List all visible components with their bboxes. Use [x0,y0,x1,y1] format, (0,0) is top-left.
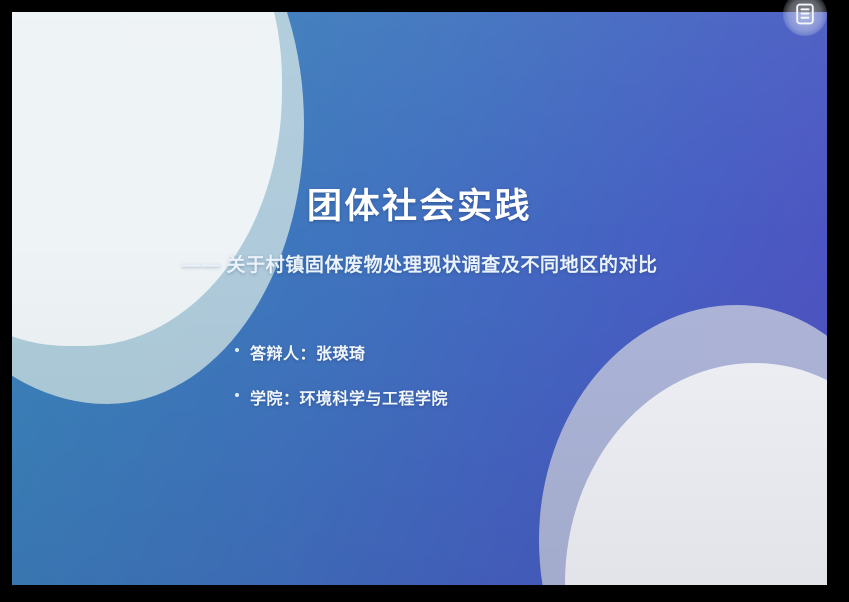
list-item-college: 学院：环境科学与工程学院 [234,385,448,409]
bullet-dot-icon [235,393,239,397]
list-item-label: 答辩人：张瑛琦 [250,346,366,363]
slide-meta-list: 答辩人：张瑛琦 学院：环境科学与工程学院 [234,340,448,430]
slide-subtitle: —— 关于村镇固体废物处理现状调查及不同地区的对比 [12,255,827,278]
list-item-presenter: 答辩人：张瑛琦 [234,340,448,364]
slide-title: 团体社会实践 [12,188,827,227]
bullet-dot-icon [235,348,239,352]
presentation-slide: 团体社会实践 —— 关于村镇固体废物处理现状调查及不同地区的对比 答辩人：张瑛琦… [12,12,827,585]
slide-text-layer: 团体社会实践 —— 关于村镇固体废物处理现状调查及不同地区的对比 答辩人：张瑛琦… [12,12,827,585]
document-list-icon [795,3,815,25]
list-item-label: 学院：环境科学与工程学院 [250,391,448,408]
video-player-frame[interactable]: 团体社会实践 —— 关于村镇固体废物处理现状调查及不同地区的对比 答辩人：张瑛琦… [0,0,849,602]
